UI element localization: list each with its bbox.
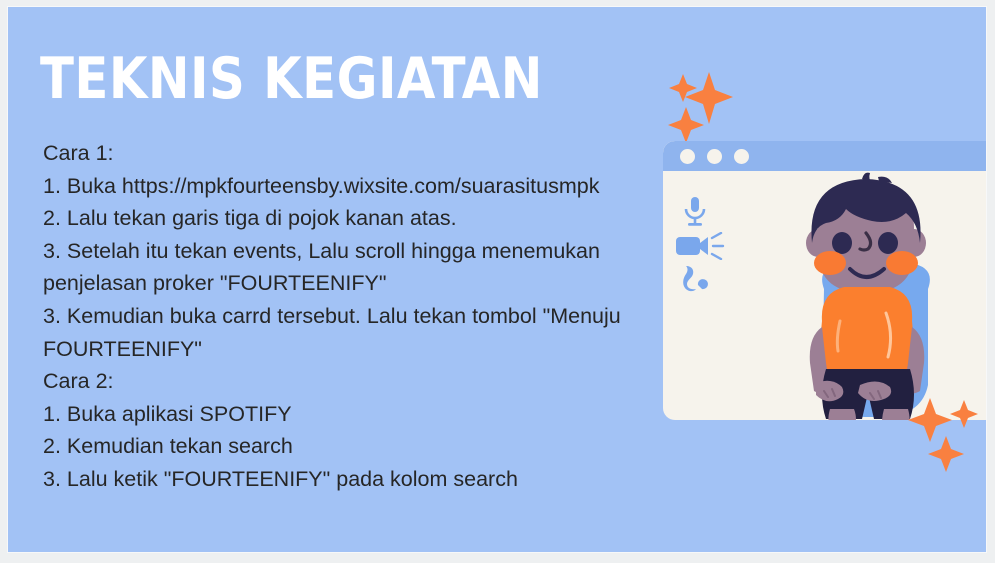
video-call-window [663,141,986,420]
window-content [663,171,986,420]
window-dot-maximize-icon[interactable] [734,149,749,164]
body-line-1: Cara 1: [43,137,663,170]
sparkle-cluster-top [653,52,753,147]
body-line-9: 3. Lalu ketik "FOURTEENIFY" pada kolom s… [43,463,663,496]
page-title: TEKNIS KEGIATAN [40,47,543,111]
sparkle-icon [668,72,733,142]
window-titlebar [663,141,986,171]
sparkle-cluster-bottom [908,392,986,477]
microphone-icon[interactable] [682,196,708,229]
body-line-4: 3. Setelah itu tekan events, Lalu scroll… [43,235,663,300]
slide-canvas: TEKNIS KEGIATAN Cara 1: 1. Buka https://… [8,7,986,552]
phone-handset-icon[interactable] [681,263,709,293]
body-line-8: 2. Kemudian tekan search [43,430,663,463]
sparkle-icon [908,398,978,472]
body-text-block: Cara 1: 1. Buka https://mpkfourteensby.w… [43,137,663,496]
body-line-5: 3. Kemudian buka carrd tersebut. Lalu te… [43,300,663,365]
window-dot-close-icon[interactable] [680,149,695,164]
body-line-6: Cara 2: [43,365,663,398]
call-controls [675,196,735,293]
body-line-2: 1. Buka https://mpkfourteensby.wixsite.c… [43,170,663,203]
body-line-7: 1. Buka aplikasi SPOTIFY [43,398,663,431]
window-dot-minimize-icon[interactable] [707,149,722,164]
video-camera-icon[interactable] [675,232,725,260]
slide-frame: TEKNIS KEGIATAN Cara 1: 1. Buka https://… [0,0,995,563]
character-illustration [756,171,986,420]
body-line-3: 2. Lalu tekan garis tiga di pojok kanan … [43,202,663,235]
